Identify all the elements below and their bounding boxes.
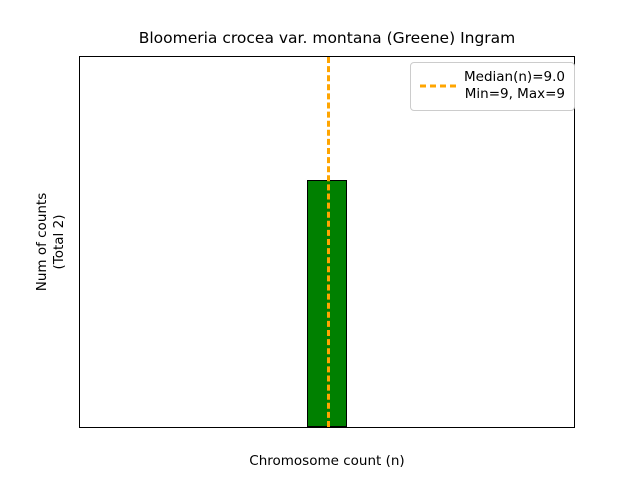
legend-label-minmax: Min=9, Max=9 xyxy=(465,86,565,103)
chart-figure: Bloomeria crocea var. montana (Greene) I… xyxy=(0,0,640,480)
legend-label-group: Median(n)=9.0 Min=9, Max=9 xyxy=(464,69,565,103)
median-line xyxy=(327,57,330,427)
y-axis-label: Num of counts (Total 2) xyxy=(34,56,68,428)
y-axis-tick-mark xyxy=(79,56,80,57)
chart-title: Bloomeria crocea var. montana (Greene) I… xyxy=(79,29,575,47)
x-axis-tick: 9 xyxy=(323,427,332,428)
chart-legend: Median(n)=9.0 Min=9, Max=9 xyxy=(410,62,575,111)
y-axis-tick: 0 xyxy=(79,420,80,428)
x-axis-label: Chromosome count (n) xyxy=(79,454,575,469)
legend-median-line-swatch xyxy=(420,79,456,93)
x-axis-tick-mark xyxy=(326,427,327,428)
y-axis-tick: 1 xyxy=(79,297,80,311)
y-axis-tick-mark xyxy=(79,303,80,304)
y-axis-tick-mark xyxy=(79,180,80,181)
plot-area: 01239 xyxy=(79,56,575,428)
legend-label-median: Median(n)=9.0 xyxy=(464,69,565,86)
y-axis-tick: 2 xyxy=(79,174,80,188)
y-axis-tick-mark xyxy=(79,426,80,427)
y-axis-tick: 3 xyxy=(79,56,80,64)
